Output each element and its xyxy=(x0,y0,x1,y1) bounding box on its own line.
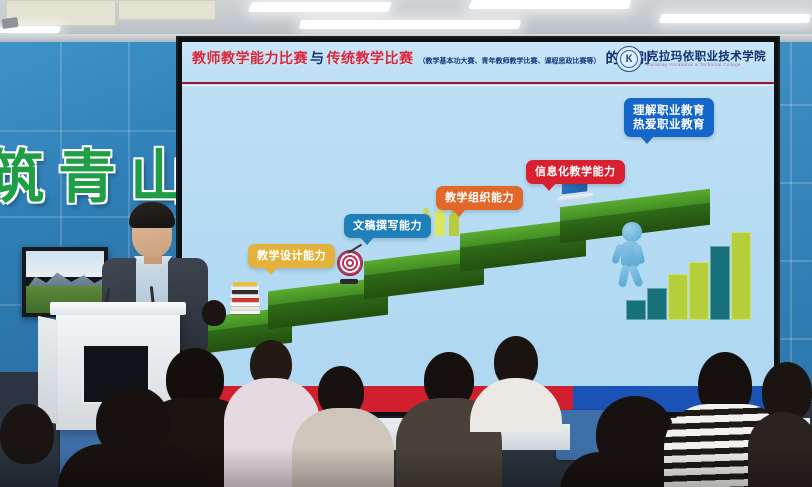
ceiling-light xyxy=(659,14,811,23)
ceiling-light xyxy=(468,0,631,9)
walking-figure-icon xyxy=(612,222,656,288)
bar-3 xyxy=(668,274,688,320)
bar-5 xyxy=(710,246,730,320)
step-label-2: 文稿撰写能力 xyxy=(344,214,431,238)
logo-name-cn: 克拉玛依职业技术学院 xyxy=(647,50,766,62)
bar-6 xyxy=(731,232,751,320)
step-label-1: 教学设计能力 xyxy=(248,244,335,268)
step-label-4: 信息化教学能力 xyxy=(526,160,625,184)
step-label-3: 教学组织能力 xyxy=(436,186,523,210)
bar-chart xyxy=(626,226,758,320)
title-note: （教学基本功大赛、青年教师教学比赛、课程思政比赛等） xyxy=(419,56,601,66)
college-logo: К 克拉玛依职业技术学院 Karamay Vocational & Techni… xyxy=(616,46,766,72)
seal-icon: К xyxy=(616,46,642,72)
lecture-hall-photo: 筑青山 教师教学能力比赛 与 传统教学比赛 （教学基本功大赛、青年教师教学比赛、… xyxy=(0,0,812,487)
title-connector: 与 xyxy=(310,48,325,68)
bar-1 xyxy=(626,300,646,320)
title-red-1: 教师教学能力比赛 xyxy=(192,48,308,68)
logo-mark: К xyxy=(626,54,633,65)
bar-4 xyxy=(689,262,709,320)
vignette xyxy=(0,447,812,487)
slide-title: 教师教学能力比赛 与 传统教学比赛 （教学基本功大赛、青年教师教学比赛、课程思政… xyxy=(192,48,651,68)
ceiling-light xyxy=(248,2,392,12)
books-icon xyxy=(230,280,260,314)
title-red-2: 传统教学比赛 xyxy=(327,48,414,68)
ceiling-light xyxy=(299,20,521,29)
target-icon xyxy=(334,250,364,284)
top-callout: 理解职业教育 热爱职业教育 xyxy=(624,98,714,137)
bar-2 xyxy=(647,288,667,320)
logo-name-en: Karamay Vocational & Technical College xyxy=(647,62,766,68)
ceiling xyxy=(0,0,812,42)
